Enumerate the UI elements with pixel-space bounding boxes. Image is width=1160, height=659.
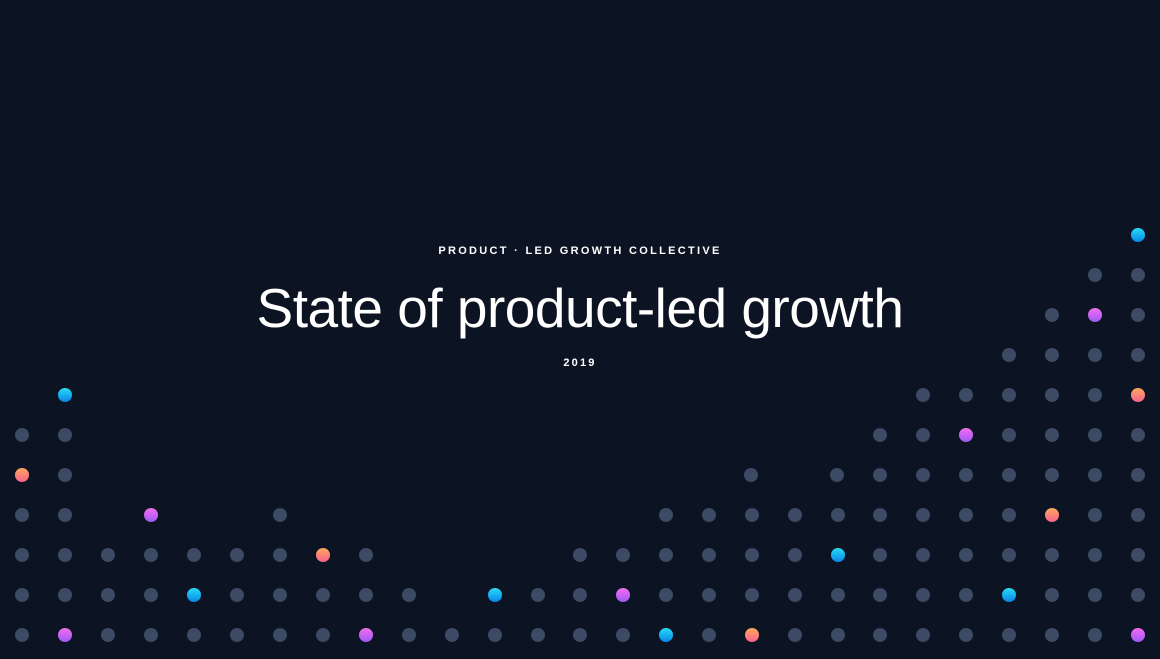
grid-dot-base — [788, 508, 802, 522]
grid-dot-base — [1002, 468, 1016, 482]
grid-dot-base — [1131, 508, 1145, 522]
grid-dot-base — [531, 628, 545, 642]
grid-dot-base — [1088, 588, 1102, 602]
grid-dot-cyan — [1002, 588, 1016, 602]
grid-dot-base — [916, 628, 930, 642]
grid-dot-base — [445, 628, 459, 642]
grid-dot-base — [744, 468, 758, 482]
grid-dot-purple — [359, 628, 373, 642]
grid-dot-base — [831, 588, 845, 602]
grid-dot-base — [916, 428, 930, 442]
grid-dot-purple — [959, 428, 973, 442]
grid-dot-base — [1088, 508, 1102, 522]
grid-dot-base — [15, 628, 29, 642]
grid-dot-base — [1131, 468, 1145, 482]
grid-dot-purple — [58, 628, 72, 642]
grid-dot-base — [15, 428, 29, 442]
grid-dot-cyan — [488, 588, 502, 602]
grid-dot-base — [959, 508, 973, 522]
grid-dot-base — [273, 628, 287, 642]
grid-dot-base — [58, 588, 72, 602]
grid-dot-base — [1002, 548, 1016, 562]
grid-dot-base — [702, 548, 716, 562]
grid-dot-base — [788, 628, 802, 642]
grid-dot-cyan — [1131, 228, 1145, 242]
grid-dot-base — [187, 628, 201, 642]
hero-text-block: PRODUCT · LED GROWTH COLLECTIVE State of… — [0, 246, 1160, 369]
grid-dot-cyan — [659, 628, 673, 642]
grid-dot-base — [144, 548, 158, 562]
grid-dot-base — [531, 588, 545, 602]
grid-dot-base — [230, 628, 244, 642]
page-title: State of product-led growth — [0, 279, 1160, 338]
grid-dot-base — [273, 588, 287, 602]
grid-dot-base — [101, 628, 115, 642]
grid-dot-base — [101, 548, 115, 562]
grid-dot-base — [1131, 588, 1145, 602]
grid-dot-base — [959, 628, 973, 642]
grid-dot-base — [573, 588, 587, 602]
grid-dot-purple — [1131, 628, 1145, 642]
grid-dot-base — [702, 588, 716, 602]
grid-dot-base — [1088, 628, 1102, 642]
grid-dot-base — [616, 548, 630, 562]
grid-dot-base — [402, 588, 416, 602]
grid-dot-base — [745, 548, 759, 562]
grid-dot-base — [831, 508, 845, 522]
grid-dot-base — [1002, 508, 1016, 522]
grid-dot-base — [873, 548, 887, 562]
grid-dot-base — [101, 588, 115, 602]
grid-dot-base — [959, 548, 973, 562]
grid-dot-base — [1002, 628, 1016, 642]
grid-dot-orange — [316, 548, 330, 562]
grid-dot-base — [1088, 548, 1102, 562]
grid-dot-base — [15, 548, 29, 562]
grid-dot-base — [873, 628, 887, 642]
grid-dot-base — [873, 508, 887, 522]
grid-dot-base — [745, 588, 759, 602]
grid-dot-base — [702, 508, 716, 522]
grid-dot-base — [316, 588, 330, 602]
grid-dot-base — [402, 628, 416, 642]
grid-dot-base — [1002, 388, 1016, 402]
grid-dot-base — [573, 548, 587, 562]
grid-dot-base — [1002, 428, 1016, 442]
grid-dot-base — [1045, 388, 1059, 402]
grid-dot-base — [873, 588, 887, 602]
grid-dot-base — [1088, 428, 1102, 442]
grid-dot-orange — [15, 468, 29, 482]
grid-dot-base — [1045, 468, 1059, 482]
grid-dot-base — [58, 548, 72, 562]
grid-dot-base — [1045, 548, 1059, 562]
grid-dot-base — [916, 468, 930, 482]
hero-canvas: PRODUCT · LED GROWTH COLLECTIVE State of… — [0, 0, 1160, 659]
grid-dot-base — [1045, 628, 1059, 642]
grid-dot-base — [916, 588, 930, 602]
grid-dot-base — [488, 628, 502, 642]
grid-dot-base — [616, 628, 630, 642]
grid-dot-base — [230, 548, 244, 562]
grid-dot-base — [1088, 388, 1102, 402]
grid-dot-base — [659, 588, 673, 602]
grid-dot-base — [273, 548, 287, 562]
grid-dot-cyan — [58, 388, 72, 402]
grid-dot-base — [230, 588, 244, 602]
grid-dot-base — [788, 548, 802, 562]
grid-dot-base — [873, 468, 887, 482]
grid-dot-base — [359, 548, 373, 562]
grid-dot-base — [1045, 428, 1059, 442]
grid-dot-base — [573, 628, 587, 642]
grid-dot-base — [702, 628, 716, 642]
grid-dot-base — [1131, 428, 1145, 442]
grid-dot-base — [58, 468, 72, 482]
grid-dot-base — [144, 588, 158, 602]
grid-dot-base — [916, 548, 930, 562]
grid-dot-base — [1131, 548, 1145, 562]
grid-dot-base — [359, 588, 373, 602]
grid-dot-base — [831, 628, 845, 642]
grid-dot-base — [659, 508, 673, 522]
report-year: 2019 — [0, 358, 1160, 369]
grid-dot-base — [316, 628, 330, 642]
grid-dot-base — [959, 588, 973, 602]
grid-dot-base — [144, 628, 158, 642]
grid-dot-base — [273, 508, 287, 522]
brand-eyebrow: PRODUCT · LED GROWTH COLLECTIVE — [0, 246, 1160, 257]
grid-dot-base — [830, 468, 844, 482]
grid-dot-orange — [1045, 508, 1059, 522]
grid-dot-base — [187, 548, 201, 562]
grid-dot-orange — [745, 628, 759, 642]
grid-dot-base — [1045, 588, 1059, 602]
grid-dot-base — [959, 388, 973, 402]
grid-dot-base — [788, 588, 802, 602]
grid-dot-base — [873, 428, 887, 442]
grid-dot-base — [15, 508, 29, 522]
grid-dot-purple — [616, 588, 630, 602]
grid-dot-cyan — [831, 548, 845, 562]
grid-dot-base — [916, 388, 930, 402]
grid-dot-purple — [144, 508, 158, 522]
grid-dot-base — [15, 588, 29, 602]
grid-dot-cyan — [187, 588, 201, 602]
grid-dot-base — [916, 508, 930, 522]
grid-dot-base — [659, 548, 673, 562]
grid-dot-base — [959, 468, 973, 482]
grid-dot-base — [58, 508, 72, 522]
grid-dot-base — [1088, 468, 1102, 482]
grid-dot-base — [745, 508, 759, 522]
grid-dot-orange — [1131, 388, 1145, 402]
grid-dot-base — [58, 428, 72, 442]
